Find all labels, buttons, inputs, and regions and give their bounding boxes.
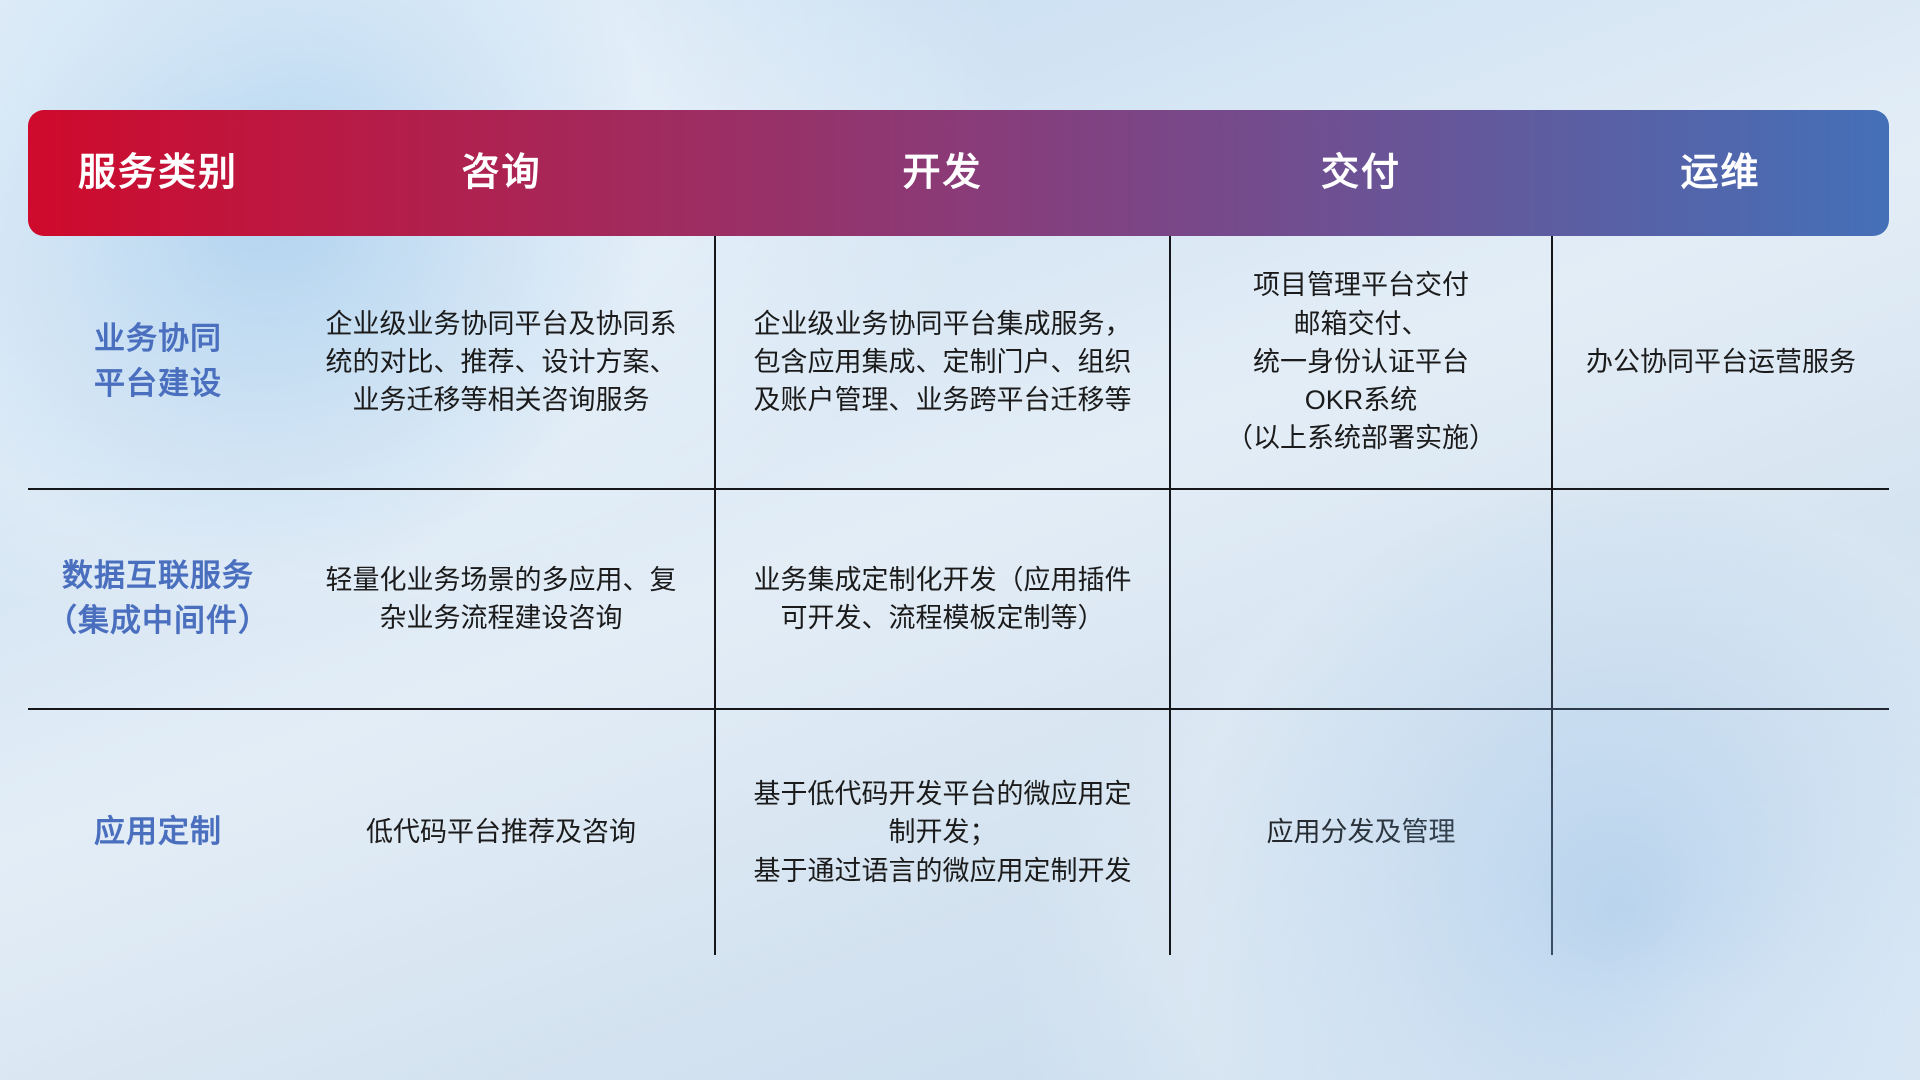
row-category-label: 业务协同平台建设: [28, 236, 288, 489]
cell-delivery: 应用分发及管理: [1170, 709, 1552, 955]
header-label-operations: 运维: [1552, 110, 1889, 236]
cell-development: 基于低代码开发平台的微应用定制开发；基于通过语言的微应用定制开发: [715, 709, 1170, 955]
header-label-category: 服务类别: [28, 110, 288, 236]
header-label-development: 开发: [715, 110, 1170, 236]
header-cell-delivery: 交付: [1170, 110, 1552, 236]
cell-text: 应用分发及管理: [1185, 813, 1537, 851]
cell-delivery: 项目管理平台交付邮箱交付、统一身份认证平台OKR系统（以上系统部署实施）: [1170, 236, 1552, 489]
service-matrix-table: 服务类别 咨询 开发 交付 运维: [28, 110, 1889, 955]
cell-text: 项目管理平台交付邮箱交付、统一身份认证平台OKR系统（以上系统部署实施）: [1185, 266, 1537, 458]
cell-text: 业务协同平台建设: [42, 317, 274, 407]
table-row: 数据互联服务（集成中间件） 轻量化业务场景的多应用、复杂业务流程建设咨询 业务集…: [28, 489, 1889, 709]
cell-text: 数据互联服务（集成中间件）: [42, 554, 274, 644]
cell-delivery: [1170, 489, 1552, 709]
header-cell-category: 服务类别: [28, 110, 288, 236]
header-cell-consulting: 咨询: [288, 110, 715, 236]
cell-text: 业务集成定制化开发（应用插件可开发、流程模板定制等）: [730, 561, 1155, 638]
cell-operations: [1552, 489, 1889, 709]
cell-consulting: 企业级业务协同平台及协同系统的对比、推荐、设计方案、业务迁移等相关咨询服务: [288, 236, 715, 489]
cell-text: 低代码平台推荐及咨询: [302, 813, 700, 851]
header-cell-operations: 运维: [1552, 110, 1889, 236]
cell-text: 应用定制: [42, 810, 274, 855]
slide-canvas: 服务类别 咨询 开发 交付 运维: [0, 0, 1920, 1080]
cell-consulting: 低代码平台推荐及咨询: [288, 709, 715, 955]
cell-text: 轻量化业务场景的多应用、复杂业务流程建设咨询: [302, 561, 700, 638]
table-row: 应用定制 低代码平台推荐及咨询 基于低代码开发平台的微应用定制开发；基于通过语言…: [28, 709, 1889, 955]
row-category-label: 应用定制: [28, 709, 288, 955]
table-head: 服务类别 咨询 开发 交付 运维: [28, 110, 1889, 236]
cell-operations: [1552, 709, 1889, 955]
cell-development: 企业级业务协同平台集成服务，包含应用集成、定制门户、组织及账户管理、业务跨平台迁…: [715, 236, 1170, 489]
header-label-delivery: 交付: [1170, 110, 1552, 236]
cell-text: 企业级业务协同平台及协同系统的对比、推荐、设计方案、业务迁移等相关咨询服务: [302, 305, 700, 420]
header-cell-development: 开发: [715, 110, 1170, 236]
row-category-label: 数据互联服务（集成中间件）: [28, 489, 288, 709]
table-header-row: 服务类别 咨询 开发 交付 运维: [28, 110, 1889, 236]
header-label-consulting: 咨询: [288, 110, 715, 236]
cell-consulting: 轻量化业务场景的多应用、复杂业务流程建设咨询: [288, 489, 715, 709]
table-row: 业务协同平台建设 企业级业务协同平台及协同系统的对比、推荐、设计方案、业务迁移等…: [28, 236, 1889, 489]
table-body: 业务协同平台建设 企业级业务协同平台及协同系统的对比、推荐、设计方案、业务迁移等…: [28, 236, 1889, 955]
cell-development: 业务集成定制化开发（应用插件可开发、流程模板定制等）: [715, 489, 1170, 709]
cell-operations: 办公协同平台运营服务: [1552, 236, 1889, 489]
services-table: 服务类别 咨询 开发 交付 运维: [28, 110, 1889, 955]
cell-text: 基于低代码开发平台的微应用定制开发；基于通过语言的微应用定制开发: [730, 775, 1155, 890]
cell-text: 企业级业务协同平台集成服务，包含应用集成、定制门户、组织及账户管理、业务跨平台迁…: [730, 305, 1155, 420]
cell-text: 办公协同平台运营服务: [1567, 343, 1875, 381]
